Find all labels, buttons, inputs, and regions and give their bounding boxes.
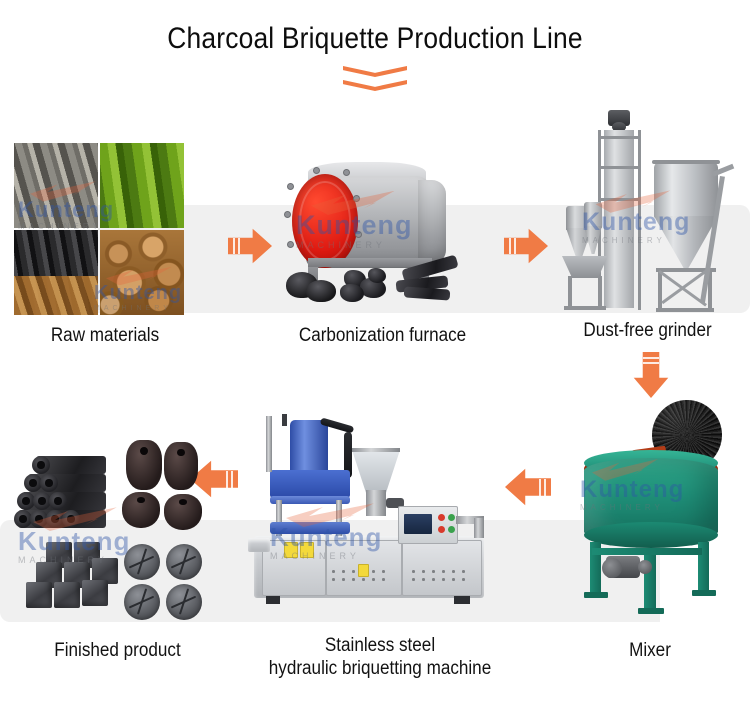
production-line-infographic: Charcoal Briquette Production Line Kunte… xyxy=(0,0,750,701)
step-carbonization-furnace[interactable]: Kunteng MACHINERY xyxy=(278,150,478,315)
step-hydraulic-briquetting-machine[interactable]: Kunteng MACHINERY xyxy=(248,412,493,617)
arrow-right-icon xyxy=(228,228,272,264)
arrow-right-icon xyxy=(504,228,548,264)
product-disc-briquette xyxy=(166,544,202,580)
step-dust-free-grinder[interactable]: Kunteng MACHINERY xyxy=(560,110,745,315)
product-disc-briquette xyxy=(124,544,160,580)
caption-carbonization-furnace: Carbonization furnace xyxy=(268,325,498,346)
product-disc-briquette xyxy=(166,584,202,620)
photo-green-bamboo xyxy=(100,143,184,228)
step-mixer[interactable]: Kunteng MACHINERY xyxy=(560,400,740,620)
double-chevron-down-icon xyxy=(0,66,750,100)
caption-mixer: Mixer xyxy=(578,640,722,661)
product-disc-briquette xyxy=(124,584,160,620)
arrow-down-icon xyxy=(633,352,669,398)
product-oval-briquette xyxy=(164,494,202,530)
caption-dust-free-grinder: Dust-free grinder xyxy=(555,320,740,341)
step-raw-materials[interactable]: Kunteng MACHINERY Kunteng MACHINERY xyxy=(14,143,184,315)
product-oval-briquette xyxy=(164,442,198,490)
caption-finished-product: Finished product xyxy=(21,640,215,661)
caption-hydraulic-briquetting-machine: Stainless steel hydraulic briquetting ma… xyxy=(254,634,506,680)
product-hexagonal-sticks xyxy=(14,456,119,536)
photo-charcoal-sticks xyxy=(14,230,98,315)
product-oval-briquette xyxy=(126,440,162,490)
arrow-left-icon xyxy=(505,468,551,506)
photo-wood-logs xyxy=(14,143,98,228)
product-oval-briquette xyxy=(122,492,160,528)
page-title: Charcoal Briquette Production Line xyxy=(45,22,705,56)
photo-coconut-shells xyxy=(100,230,184,315)
step-finished-product[interactable]: Kunteng MACHINERY xyxy=(14,440,204,620)
caption-raw-materials: Raw materials xyxy=(11,325,200,346)
